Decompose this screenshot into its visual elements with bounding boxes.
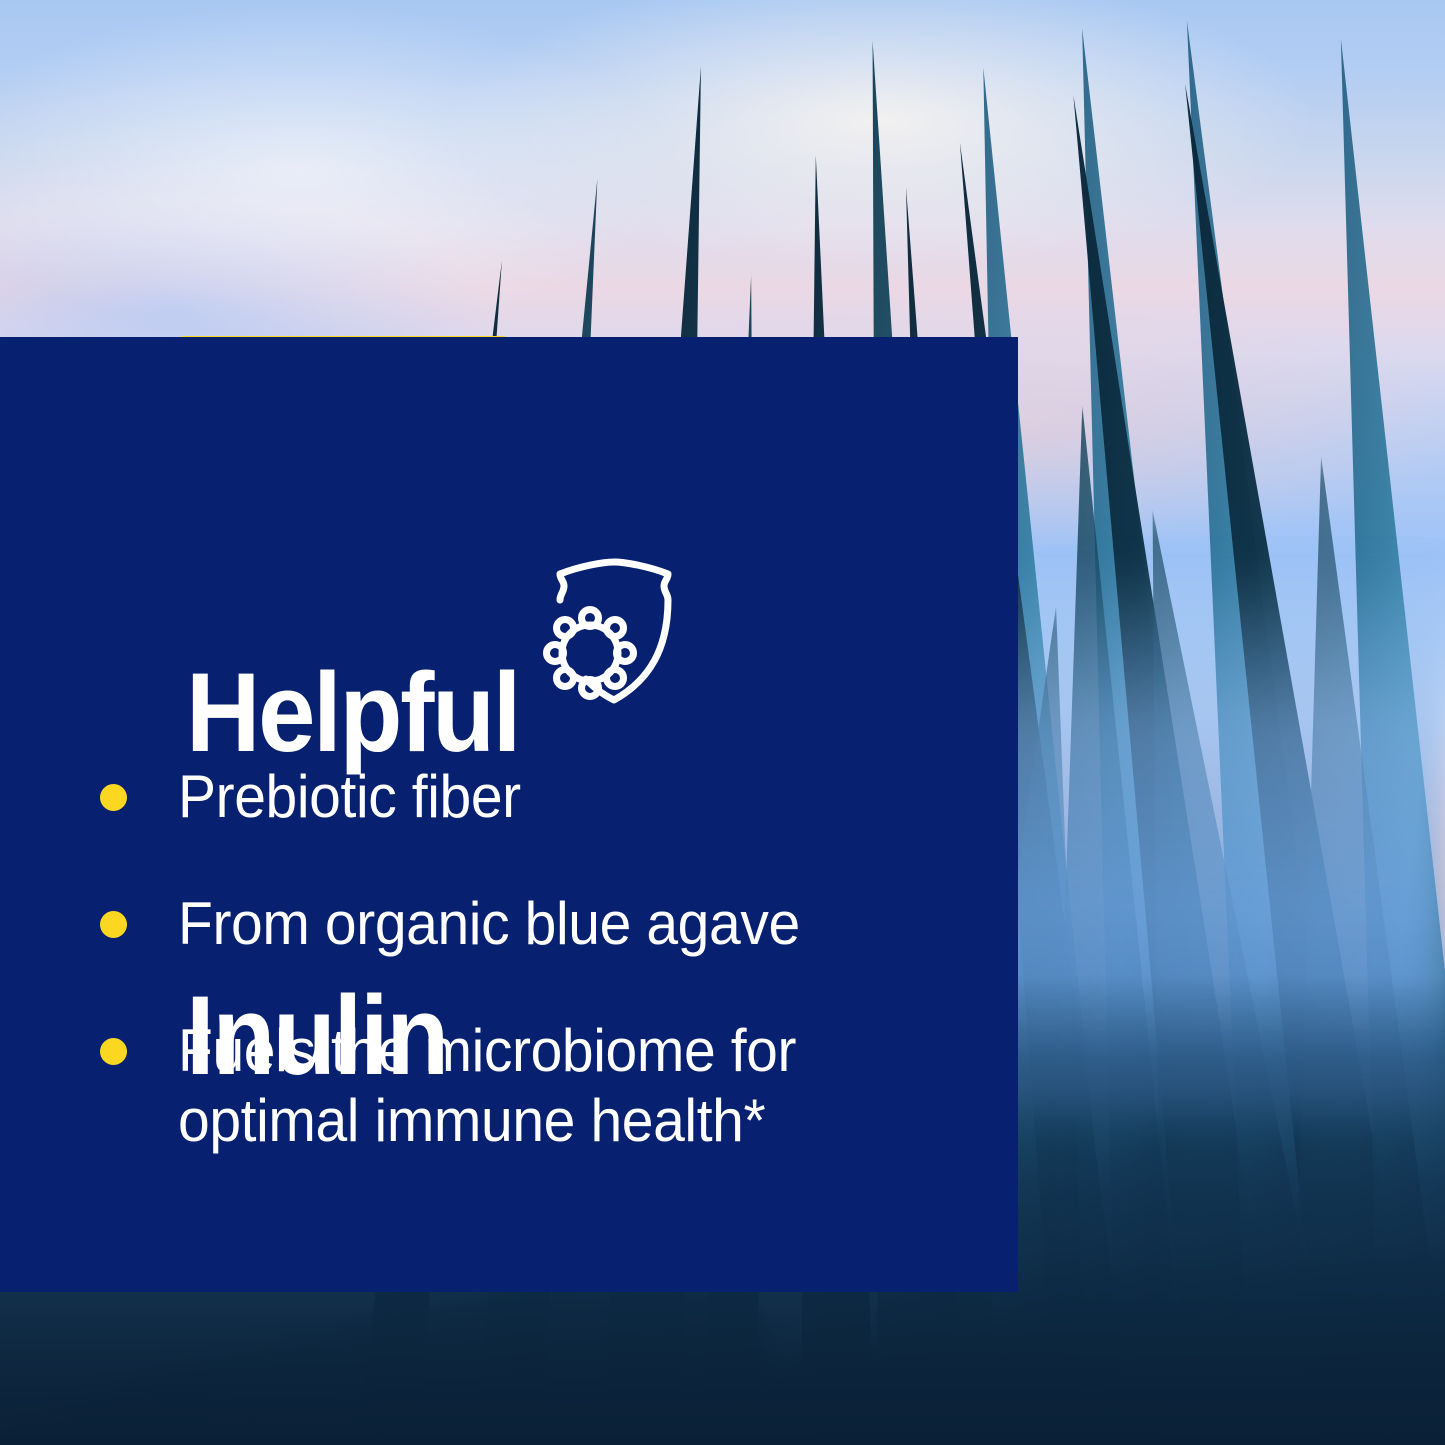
list-item: Prebiotic fiber — [100, 762, 930, 833]
title-line-1: Helpful — [186, 659, 519, 767]
content-panel: Helpful Inulin — [0, 337, 1018, 1292]
page-title: Helpful Inulin — [0, 337, 172, 660]
list-item: From organic blue agave — [100, 889, 930, 960]
bullet-dot-icon — [100, 784, 127, 811]
benefit-text: Fuels the microbiome for optimal immune … — [178, 1016, 796, 1158]
benefit-text: Prebiotic fiber — [178, 762, 521, 833]
list-item: Fuels the microbiome for optimal immune … — [100, 1016, 930, 1158]
bullet-dot-icon — [100, 911, 127, 938]
bullet-dot-icon — [100, 1038, 127, 1065]
benefit-text: From organic blue agave — [178, 889, 800, 960]
benefit-list: Prebiotic fiber From organic blue agave … — [100, 762, 930, 1213]
shield-microbe-icon — [538, 556, 690, 708]
marketing-graphic: Helpful Inulin — [0, 0, 1445, 1445]
